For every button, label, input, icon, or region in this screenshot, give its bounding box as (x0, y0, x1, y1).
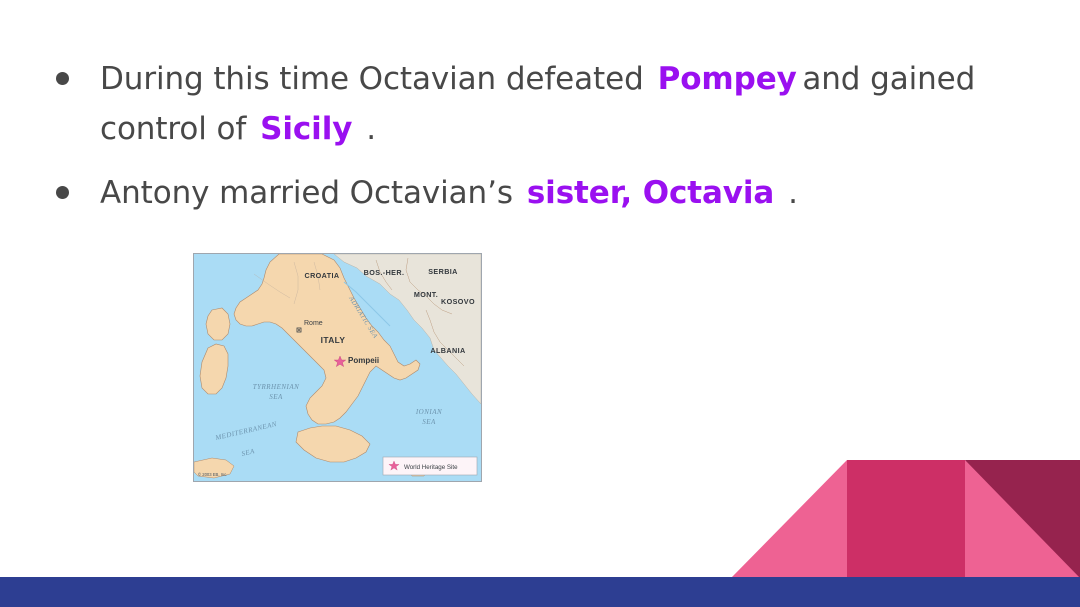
list-item: During this time Octavian defeatedPompey… (44, 54, 1034, 154)
map-label-croatia: CROATIA (304, 271, 339, 280)
bullet-1-highlight-pompey: Pompey (658, 61, 797, 97)
bullet-dot-icon (56, 72, 69, 85)
map-copyright: © 2003 EB, Inc. (198, 472, 227, 477)
bullet-2-segment-1: Antony married Octavian’s (100, 175, 513, 211)
map-label-italy: ITALY (321, 335, 346, 345)
bullet-list: During this time Octavian defeatedPompey… (44, 54, 1034, 233)
map-label-montenegro: MONT. (414, 290, 438, 299)
map-label-tyrrhenian: TYRRHENIAN (253, 383, 300, 391)
decor-triangle-middle-pink (965, 460, 1080, 578)
map-label-tyrrhenian-sea: SEA (269, 393, 283, 401)
bullet-dot-icon (56, 186, 69, 199)
map-image-italy-pompeii: CROATIA BOS.-HER. SERBIA MONT. KOSOVO AL… (193, 253, 482, 482)
slide-canvas: During this time Octavian defeatedPompey… (0, 0, 1080, 607)
map-label-bosnia: BOS.-HER. (364, 268, 405, 277)
map-label-ionian: IONIAN (415, 408, 442, 416)
map-legend: World Heritage Site (383, 457, 477, 475)
map-label-pompeii: Pompeii (348, 356, 379, 365)
map-graphic: CROATIA BOS.-HER. SERBIA MONT. KOSOVO AL… (194, 254, 481, 481)
list-item: Antony married Octavian’ssister, Octavia… (44, 168, 1034, 218)
decor-triangle-dark-maroon (965, 460, 1080, 578)
decor-rect-mid-pink (847, 460, 965, 578)
map-label-serbia: SERBIA (428, 267, 458, 276)
map-label-ionian-sea: SEA (422, 418, 436, 426)
bottom-accent-bar (0, 577, 1080, 607)
decor-triangle-left-pink (731, 460, 847, 578)
bullet-2-highlight-octavia: sister, Octavia (527, 175, 774, 211)
bullet-1-segment-1: During this time Octavian defeated (100, 61, 644, 97)
map-label-albania: ALBANIA (430, 346, 465, 355)
map-legend-label: World Heritage Site (404, 464, 458, 471)
map-marker-square-dot (298, 329, 300, 331)
map-label-kosovo: KOSOVO (441, 297, 475, 306)
bullet-1-highlight-sicily: Sicily (260, 111, 352, 147)
bullet-1-period: . (366, 111, 376, 147)
bullet-2-period: . (788, 175, 798, 211)
map-label-rome: Rome (304, 320, 323, 327)
